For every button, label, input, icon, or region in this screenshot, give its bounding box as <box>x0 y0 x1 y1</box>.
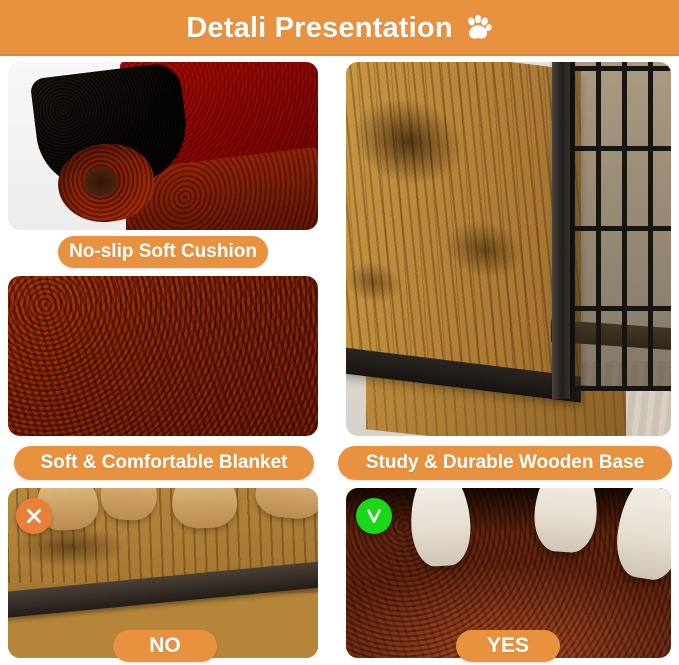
header-content: Detali Presentation <box>186 12 493 45</box>
paw-icon <box>463 13 493 43</box>
caption-comparison-yes: YES <box>456 630 560 662</box>
image-soft-blanket <box>8 276 318 436</box>
header-banner: Detali Presentation <box>0 0 679 56</box>
cross-icon <box>16 498 52 534</box>
dog-paw <box>99 488 158 522</box>
metal-corner-post <box>552 62 570 399</box>
dog-paw <box>171 488 238 529</box>
metal-grid-bars <box>570 62 671 391</box>
page-title: Detali Presentation <box>186 12 453 45</box>
caption-comparison-no: NO <box>113 630 217 662</box>
dog-paw <box>409 488 472 568</box>
caption-soft-blanket: Soft & Comfortable Blanket <box>14 446 314 480</box>
dog-paw <box>253 488 318 522</box>
caption-no-slip-cushion: No-slip Soft Cushion <box>58 236 268 268</box>
image-wooden-base <box>346 62 671 436</box>
wood-tabletop <box>346 62 580 399</box>
caption-wooden-base: Study & Durable Wooden Base <box>338 446 672 480</box>
image-no-slip-cushion <box>8 62 318 230</box>
check-icon <box>356 498 392 534</box>
product-detail-page: Detali Presentation No-slip Soft Cushion… <box>0 0 679 665</box>
dog-paw <box>531 488 599 555</box>
